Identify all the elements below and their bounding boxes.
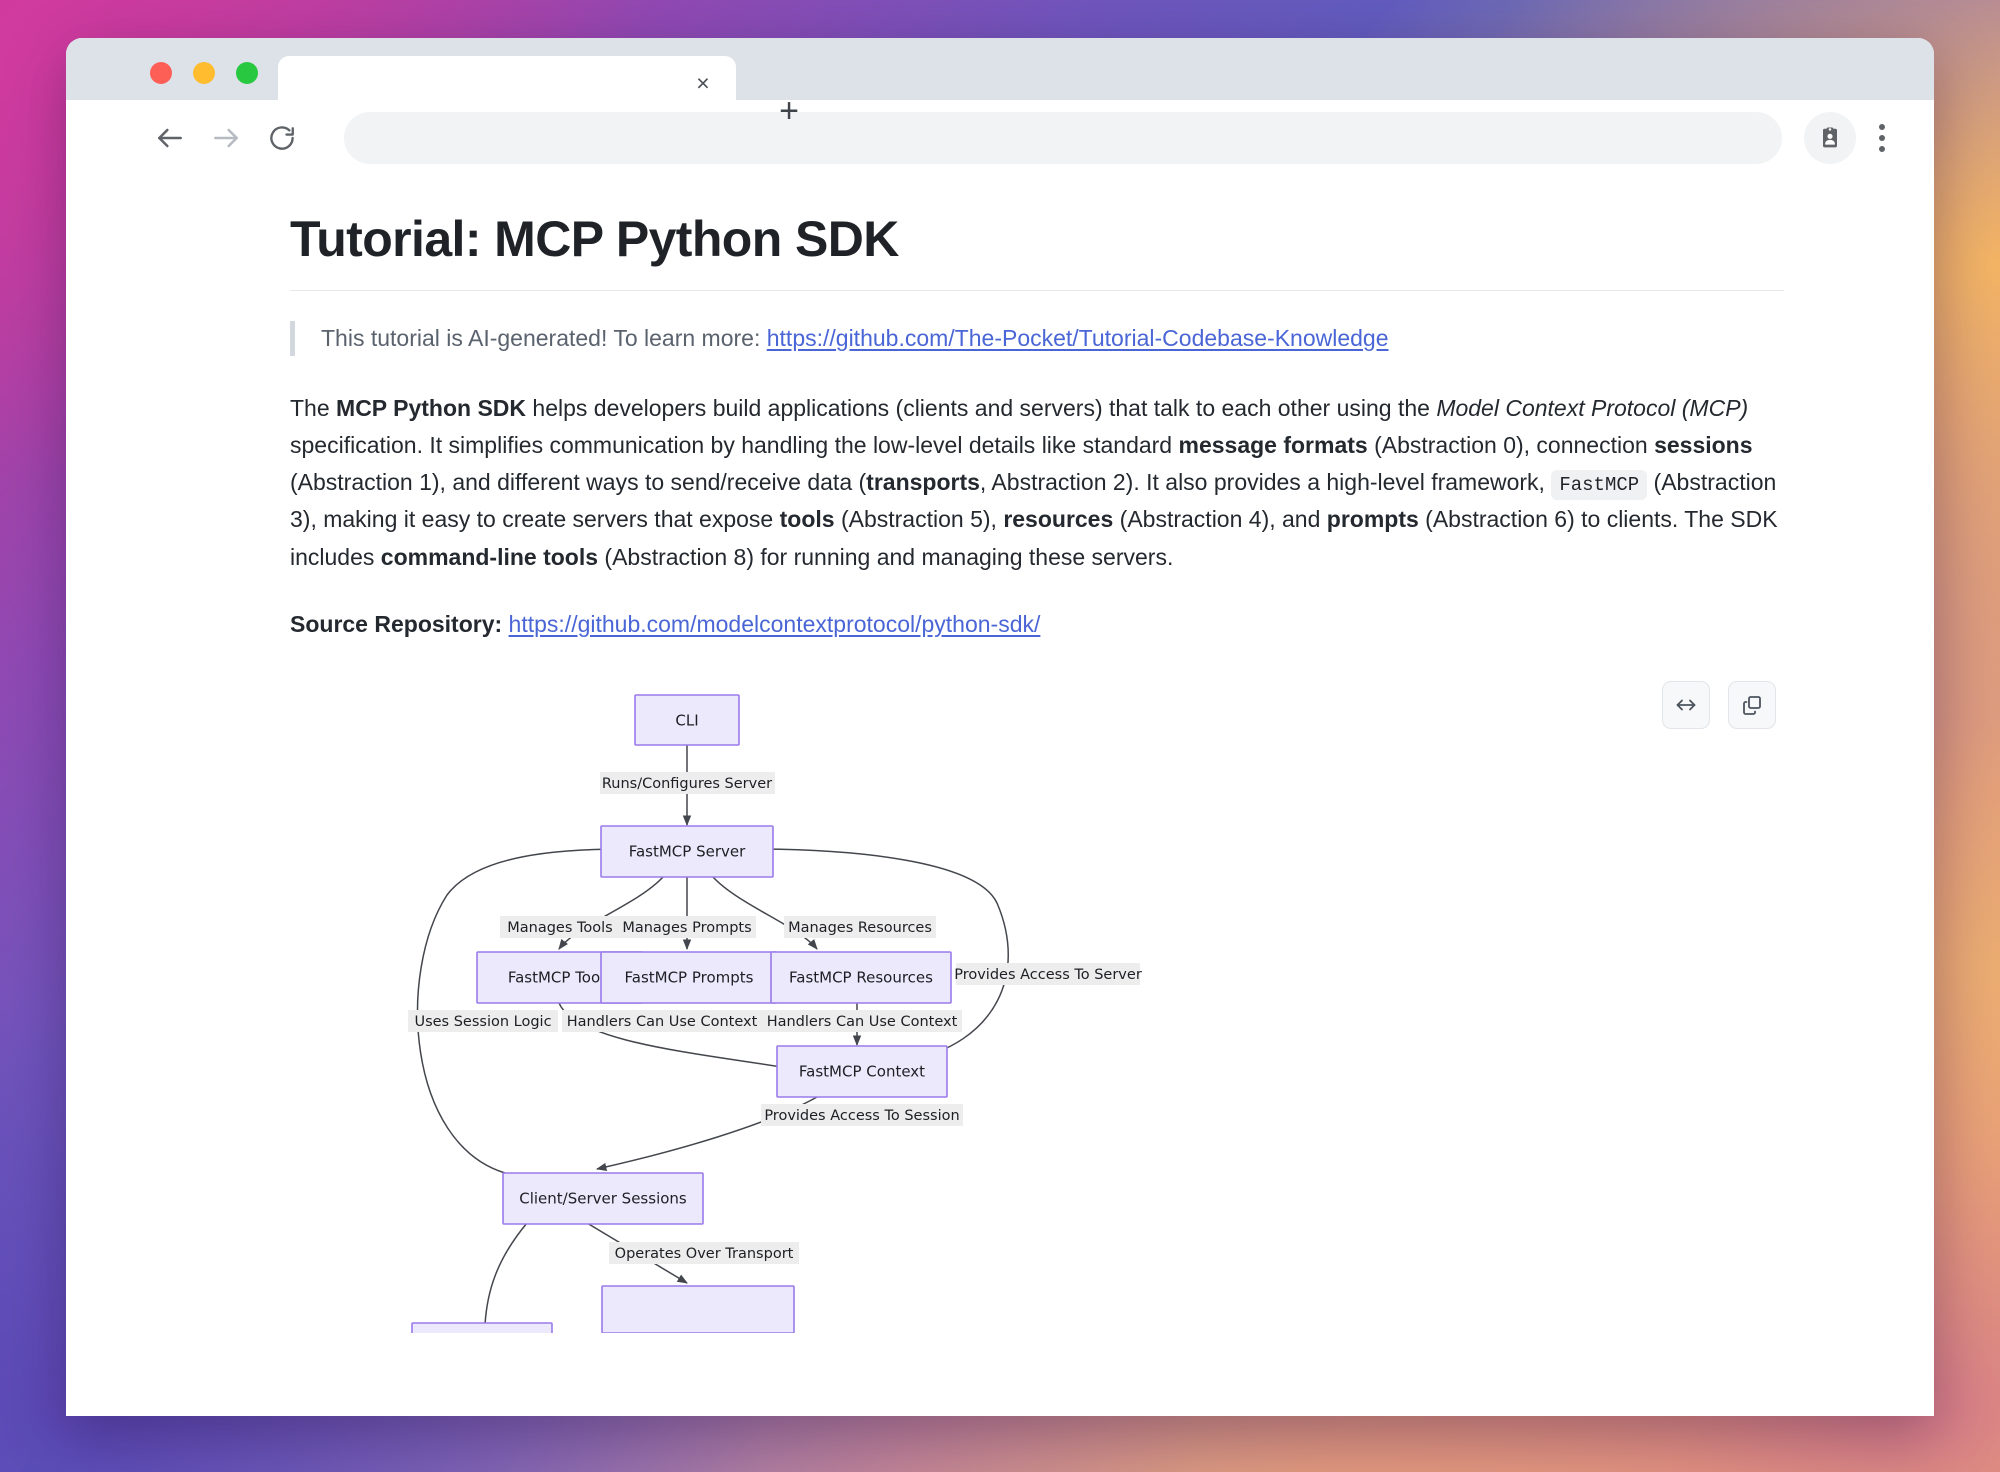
intro-t3: specification. It simplifies communicati… xyxy=(290,432,1179,458)
diagram-toolbar xyxy=(1662,681,1776,729)
svg-text:Handlers Can Use Context: Handlers Can Use Context xyxy=(567,1014,758,1030)
browser-tab[interactable]: × xyxy=(278,56,736,110)
intro-b4: transports xyxy=(866,469,980,495)
intro-t1: The xyxy=(290,395,336,421)
reload-icon[interactable] xyxy=(254,110,310,166)
svg-text:Operates Over Transport: Operates Over Transport xyxy=(615,1246,794,1262)
edge-label-handlers-can-use-context-right: Handlers Can Use Context xyxy=(762,1010,962,1032)
edge-label-manages-resources: Manages Resources xyxy=(784,916,936,938)
node-client-server-sessions-label: Client/Server Sessions xyxy=(519,1190,687,1208)
fastmcp-code-chip: FastMCP xyxy=(1551,470,1647,500)
architecture-flowchart: CLI FastMCP Server FastMCP Tools FastMCP… xyxy=(387,673,1687,1333)
intro-i1: Model Context Protocol (MCP) xyxy=(1436,395,1748,421)
edge-label-handlers-can-use-context-left: Handlers Can Use Context xyxy=(562,1010,762,1032)
node-fastmcp-resources-label: FastMCP Resources xyxy=(789,969,933,987)
node-cli-label: CLI xyxy=(675,712,698,730)
intro-t6: , Abstraction 2). It also provides a hig… xyxy=(980,469,1551,495)
ai-note-text: This tutorial is AI-generated! To learn … xyxy=(321,325,767,351)
intro-paragraph: The MCP Python SDK helps developers buil… xyxy=(290,390,1784,576)
forward-icon[interactable] xyxy=(198,110,254,166)
close-window-button[interactable] xyxy=(150,62,172,84)
intro-t5: (Abstraction 1), and different ways to s… xyxy=(290,469,866,495)
browser-menu-icon[interactable] xyxy=(1856,112,1908,164)
edge-sessions-left-node xyxy=(485,1223,527,1325)
new-tab-button[interactable]: + xyxy=(768,90,810,132)
page-title: Tutorial: MCP Python SDK xyxy=(290,210,1784,291)
node-fastmcp-context[interactable]: FastMCP Context xyxy=(777,1046,947,1097)
page-viewport[interactable]: Tutorial: MCP Python SDK This tutorial i… xyxy=(66,176,1934,1416)
tutorial-repo-link[interactable]: https://github.com/The-Pocket/Tutorial-C… xyxy=(767,325,1389,351)
svg-text:Manages Prompts: Manages Prompts xyxy=(622,920,751,936)
intro-t4: (Abstraction 0), connection xyxy=(1368,432,1654,458)
tab-strip: × + xyxy=(66,38,1934,100)
node-fastmcp-prompts-label: FastMCP Prompts xyxy=(625,969,754,987)
svg-text:Provides Access To Session: Provides Access To Session xyxy=(764,1108,959,1124)
intro-t11: (Abstraction 8) for running and managing… xyxy=(598,544,1173,570)
edge-label-operates-over-transport: Operates Over Transport xyxy=(609,1242,799,1264)
edge-server-tools xyxy=(559,877,663,949)
node-fastmcp-resources[interactable]: FastMCP Resources xyxy=(771,952,951,1003)
intro-b6: resources xyxy=(1003,506,1113,532)
svg-text:Runs/Configures Server: Runs/Configures Server xyxy=(602,776,772,792)
intro-t9: (Abstraction 4), and xyxy=(1113,506,1327,532)
edge-label-runs-configures-server: Runs/Configures Server xyxy=(600,772,775,794)
source-repository-label: Source Repository: xyxy=(290,611,502,637)
intro-b8: command-line tools xyxy=(381,544,598,570)
node-left-cutoff[interactable] xyxy=(412,1323,552,1333)
node-fastmcp-server[interactable]: FastMCP Server xyxy=(601,826,773,877)
minimize-window-button[interactable] xyxy=(193,62,215,84)
intro-b3: sessions xyxy=(1654,432,1752,458)
intro-t8: (Abstraction 5), xyxy=(835,506,1004,532)
profile-icon[interactable] xyxy=(1804,112,1856,164)
window-traffic-lights xyxy=(150,62,258,84)
edge-label-provides-access-to-server: Provides Access To Server xyxy=(954,963,1142,985)
svg-text:Uses Session Logic: Uses Session Logic xyxy=(414,1014,551,1030)
address-bar[interactable] xyxy=(344,112,1782,164)
node-transport-cutoff[interactable] xyxy=(602,1286,794,1333)
node-fastmcp-prompts[interactable]: FastMCP Prompts xyxy=(601,952,777,1003)
intro-b2: message formats xyxy=(1179,432,1368,458)
ai-generated-note: This tutorial is AI-generated! To learn … xyxy=(290,321,1784,356)
browser-toolbar xyxy=(66,100,1934,176)
edge-label-manages-tools: Manages Tools xyxy=(500,916,620,938)
edge-label-manages-prompts: Manages Prompts xyxy=(619,916,756,938)
browser-window: × + xyxy=(66,38,1934,1416)
document-content: Tutorial: MCP Python SDK This tutorial i… xyxy=(66,176,1934,1333)
intro-b1: MCP Python SDK xyxy=(336,395,526,421)
node-fastmcp-context-label: FastMCP Context xyxy=(799,1063,925,1081)
edge-label-provides-access-to-session: Provides Access To Session xyxy=(761,1104,963,1126)
svg-text:Manages Resources: Manages Resources xyxy=(788,920,932,936)
edge-server-resources xyxy=(713,877,817,949)
copy-diagram-button[interactable] xyxy=(1728,681,1776,729)
back-icon[interactable] xyxy=(142,110,198,166)
intro-b5: tools xyxy=(780,506,835,532)
edge-label-uses-session-logic: Uses Session Logic xyxy=(408,1010,558,1032)
svg-text:Manages Tools: Manages Tools xyxy=(507,920,612,936)
node-fastmcp-tools-label: FastMCP Tools xyxy=(508,969,613,987)
svg-text:Handlers Can Use Context: Handlers Can Use Context xyxy=(767,1014,958,1030)
source-repository-link[interactable]: https://github.com/modelcontextprotocol/… xyxy=(509,611,1041,637)
intro-b7: prompts xyxy=(1327,506,1419,532)
mermaid-diagram-container: CLI FastMCP Server FastMCP Tools FastMCP… xyxy=(290,673,1784,1333)
source-repository-line: Source Repository: https://github.com/mo… xyxy=(290,606,1784,643)
close-tab-icon[interactable]: × xyxy=(688,68,718,98)
intro-t2: helps developers build applications (cli… xyxy=(526,395,1436,421)
node-cli[interactable]: CLI xyxy=(635,695,739,745)
node-fastmcp-server-label: FastMCP Server xyxy=(629,843,746,861)
node-client-server-sessions[interactable]: Client/Server Sessions xyxy=(503,1173,703,1224)
svg-text:Provides Access To Server: Provides Access To Server xyxy=(954,967,1142,983)
expand-diagram-button[interactable] xyxy=(1662,681,1710,729)
maximize-window-button[interactable] xyxy=(236,62,258,84)
